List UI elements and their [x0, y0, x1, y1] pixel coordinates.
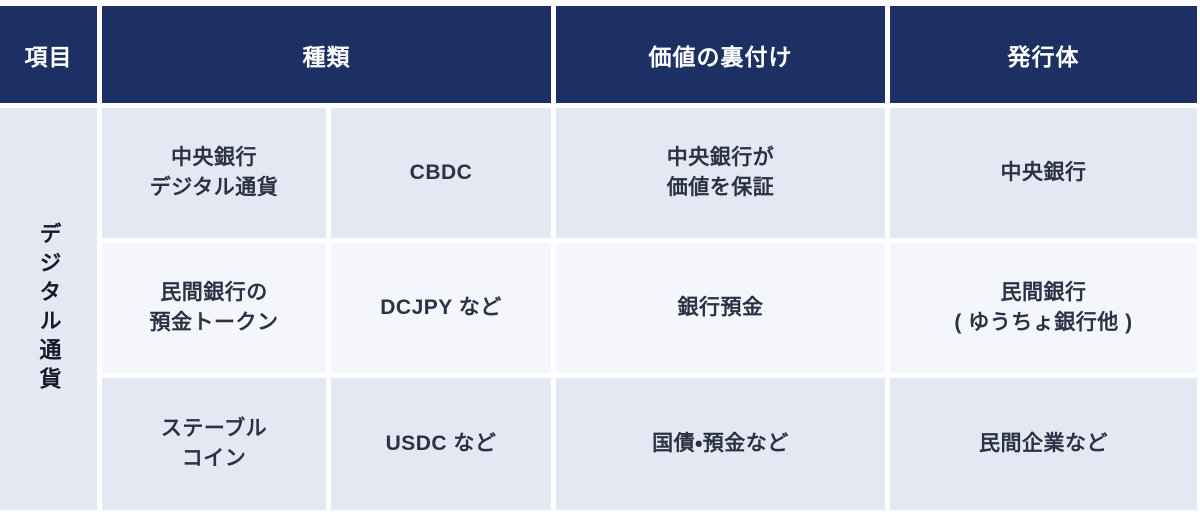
comparison-table-container: 項目 種類 価値の裏付け 発行体 デジタル通貨 中央銀行 デジタル通貨 CBDC… — [0, 0, 1200, 518]
cell-issuer-2-text: 民間銀行 ( ゆうちょ銀行他 ) — [954, 278, 1132, 339]
row-group-label-text: デジタル通貨 — [38, 222, 60, 396]
table-header-type: 種類 — [102, 6, 551, 103]
cell-issuer-2-line1: 民間銀行 — [954, 278, 1132, 308]
cell-type-1-line2: デジタル通貨 — [150, 173, 279, 203]
cell-issuer-1: 中央銀行 — [890, 108, 1197, 238]
cell-type-2-line2: 預金トークン — [150, 308, 279, 338]
cell-type-3: ステーブル コイン — [161, 414, 267, 475]
cell-backing-1-text: 中央銀行が 価値を保証 — [667, 143, 775, 204]
digital-currency-comparison-table: 項目 種類 価値の裏付け 発行体 デジタル通貨 中央銀行 デジタル通貨 CBDC… — [0, 6, 1193, 512]
cell-issuer-2: 民間銀行 ( ゆうちょ銀行他 ) — [890, 243, 1197, 373]
cell-type-1-line1: 中央銀行 — [150, 143, 279, 173]
cell-issuer-2-line2: ( ゆうちょ銀行他 ) — [954, 308, 1132, 338]
cell-issuer-3: 民間企業など — [890, 378, 1197, 510]
cell-backing-3: 国債・預金など — [556, 378, 885, 510]
cell-type-3-line2: コイン — [161, 444, 267, 474]
cell-example-3: USDC など — [331, 378, 551, 510]
table-row: ステーブル コイン — [102, 378, 326, 510]
cell-example-2: DCJPY など — [331, 243, 551, 373]
table-row: 民間銀行の 預金トークン — [102, 243, 326, 373]
cell-backing-1-line2: 価値を保証 — [667, 173, 775, 203]
cell-backing-1: 中央銀行が 価値を保証 — [556, 108, 885, 238]
table-row: 中央銀行 デジタル通貨 — [102, 108, 326, 238]
row-group-label-digital-currency: デジタル通貨 — [0, 108, 97, 510]
cell-example-1: CBDC — [331, 108, 551, 238]
cell-backing-1-line1: 中央銀行が — [667, 143, 775, 173]
table-header-item: 項目 — [0, 6, 97, 103]
cell-type-1: 中央銀行 デジタル通貨 — [150, 143, 279, 204]
table-header-backing: 価値の裏付け — [556, 6, 885, 103]
table-header-issuer: 発行体 — [890, 6, 1197, 103]
cell-type-2: 民間銀行の 預金トークン — [150, 278, 279, 339]
cell-backing-2: 銀行預金 — [556, 243, 885, 373]
cell-type-2-line1: 民間銀行の — [150, 278, 279, 308]
cell-type-3-line1: ステーブル — [161, 414, 267, 444]
